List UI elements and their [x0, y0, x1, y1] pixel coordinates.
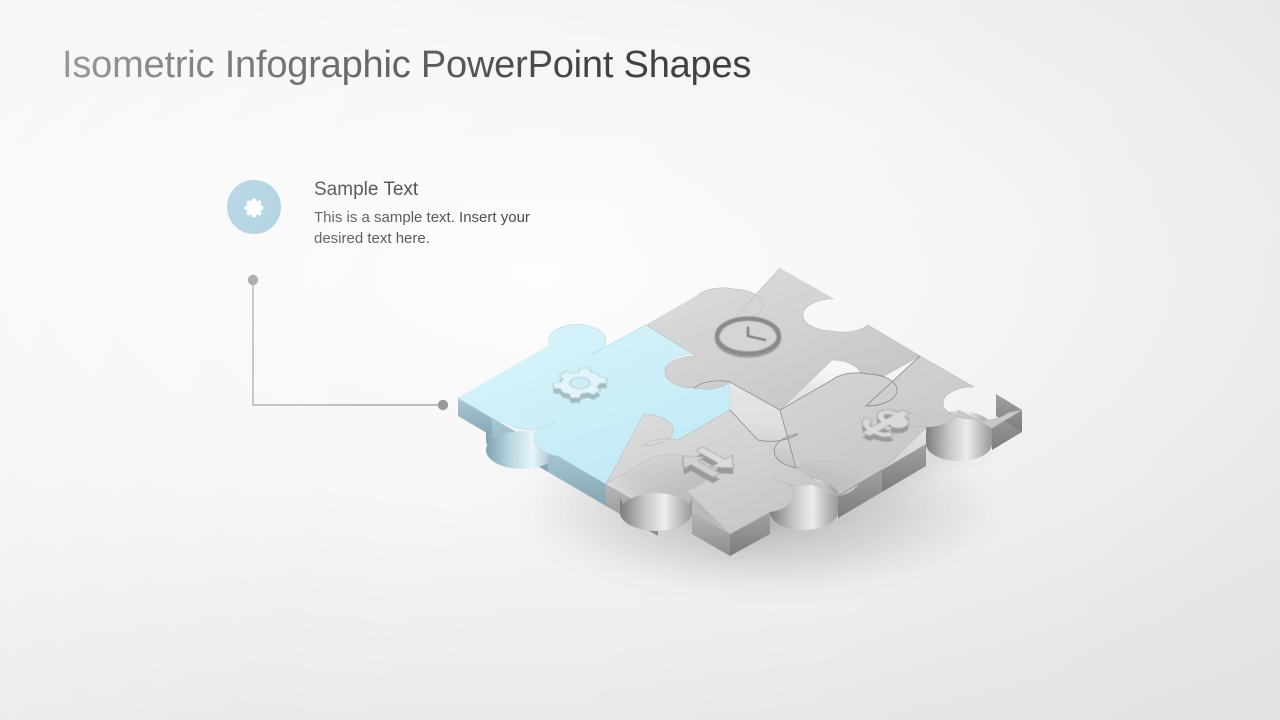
callout-body-text: This is a sample text. Insert your desir…: [314, 207, 559, 250]
slide-canvas: Isometric Infographic PowerPoint Shapes …: [0, 0, 1280, 720]
callout-icon-circle[interactable]: [227, 180, 281, 234]
gear-icon: [241, 194, 267, 220]
callout-heading: Sample Text: [314, 178, 559, 202]
callout-text-group: Sample Text This is a sample text. Inser…: [314, 178, 559, 249]
page-title: Isometric Infographic PowerPoint Shapes: [62, 44, 751, 87]
connector-start-dot: [248, 275, 258, 285]
clock-icon: [717, 319, 779, 356]
isometric-puzzle-graphic: [430, 250, 1050, 610]
